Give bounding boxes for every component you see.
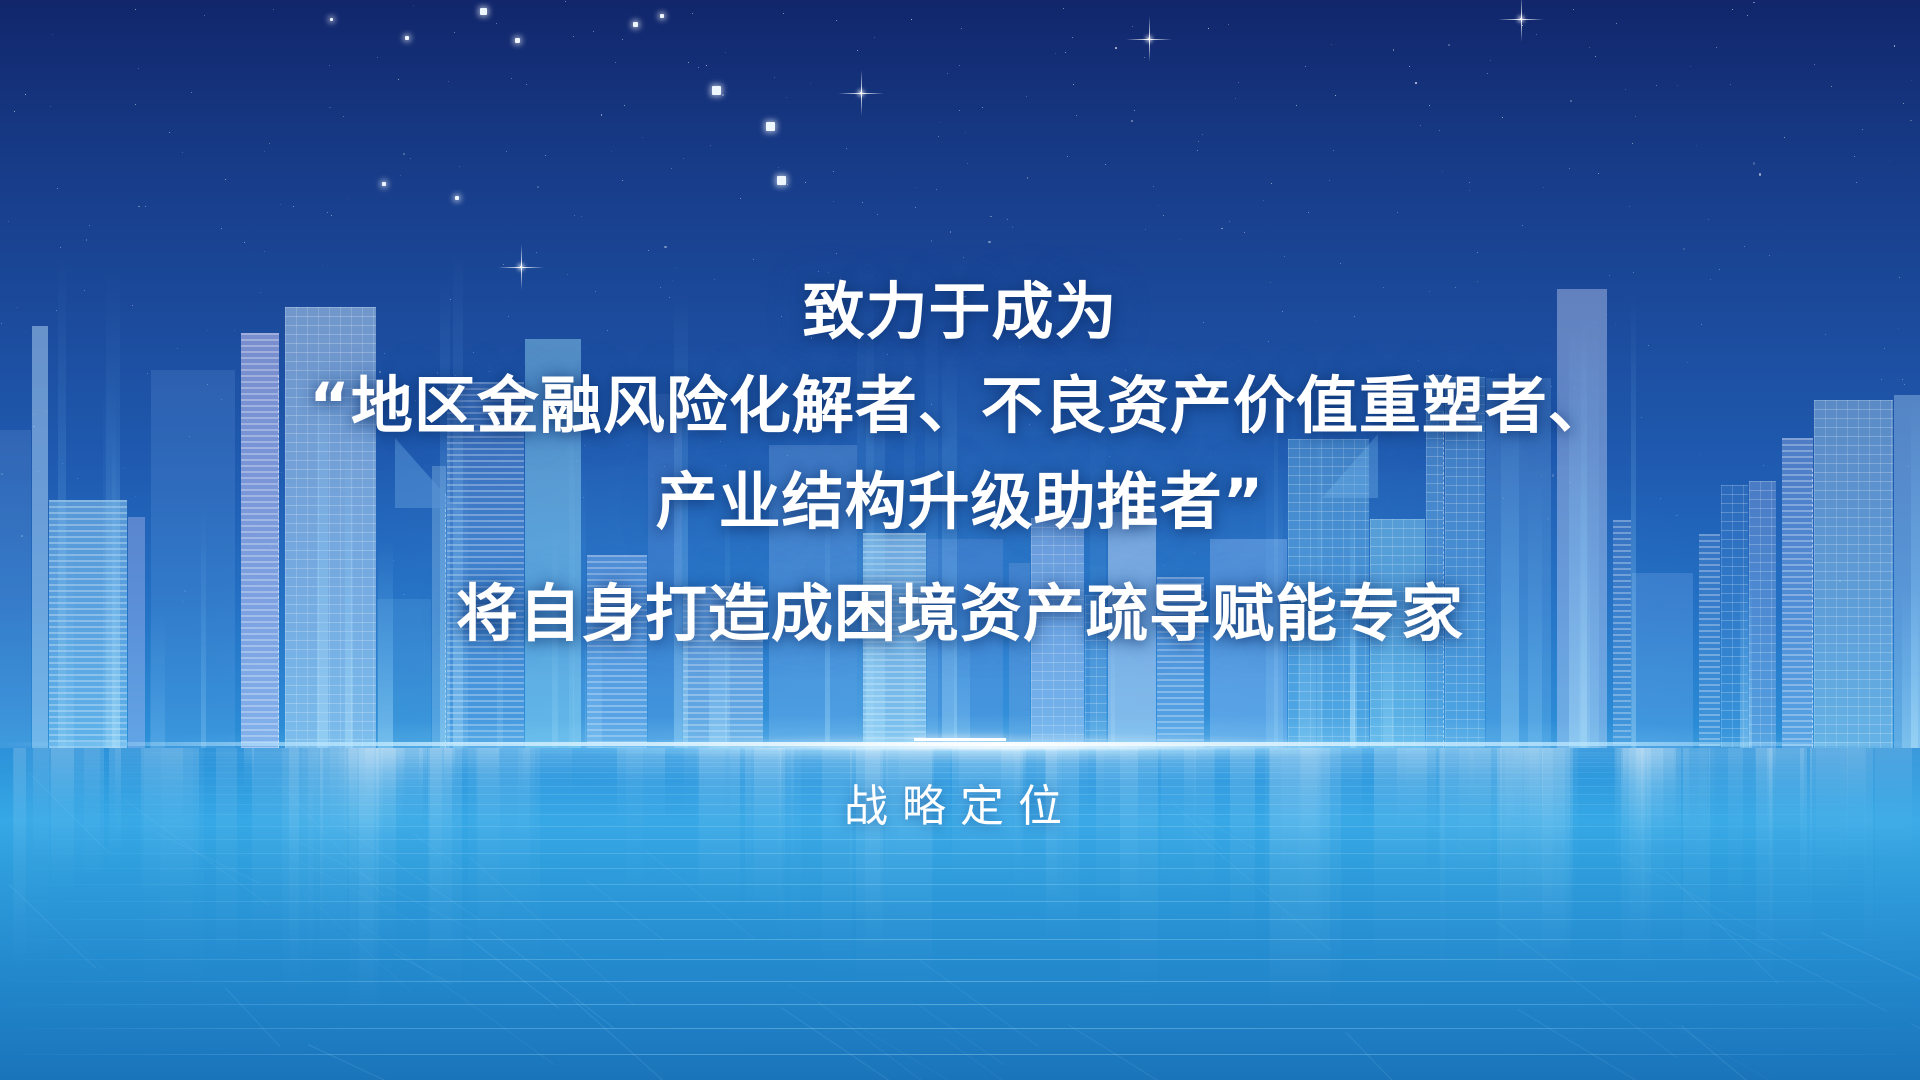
headline-line-3: 产业结构升级助推者”	[0, 466, 1920, 538]
slide-subtitle: 战略定位	[0, 770, 1920, 834]
headline-line-4: 将自身打造成困境资产疏导赋能专家	[0, 578, 1920, 650]
headline-line-1: 致力于成为	[0, 276, 1920, 348]
slide-canvas: 致力于成为 “地区金融风险化解者、不良资产价值重塑者、 产业结构升级助推者” 将…	[0, 0, 1920, 1080]
slide-content: 致力于成为 “地区金融风险化解者、不良资产价值重塑者、 产业结构升级助推者” 将…	[0, 0, 1920, 1080]
title-divider	[914, 738, 1006, 741]
headline-line-2: “地区金融风险化解者、不良资产价值重塑者、	[0, 370, 1920, 442]
